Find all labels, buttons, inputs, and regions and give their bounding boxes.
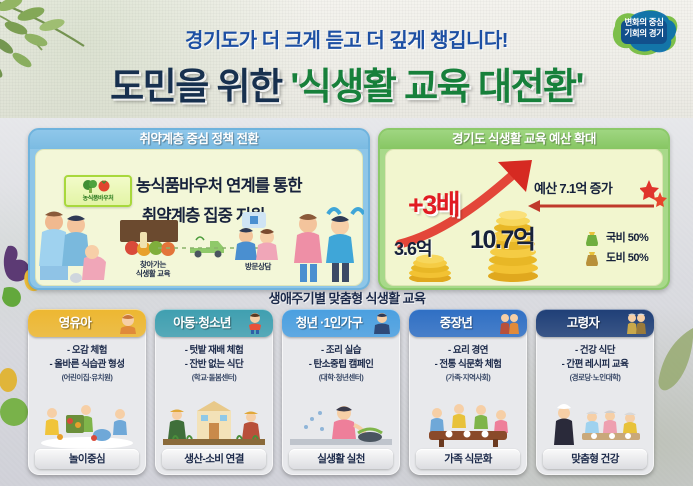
card-header-youth-single: 청년 ·1인가구 bbox=[282, 309, 400, 337]
home-visit-counseling-icon bbox=[230, 210, 286, 262]
infographic-root: 경기도가 더 크게 듣고 더 깊게 챙깁니다! 도민을 위한 '식생활 교육 대… bbox=[0, 0, 693, 486]
voucher-badge: 농식품바우처 bbox=[64, 175, 132, 207]
budget-multiplier: +3배 bbox=[408, 183, 459, 222]
page-title: 도민을 위한 '식생활 교육 대전환' bbox=[0, 56, 693, 110]
young-adult-icon bbox=[371, 312, 393, 334]
policy-shift-heading: 취약계층 중심 정책 전환 bbox=[30, 130, 368, 149]
couple-heart-icon bbox=[288, 204, 364, 284]
card-lines-infant: - 오감 체험 - 올바른 식습관 형성 (어린이집·유치원) bbox=[28, 344, 146, 383]
cooking-practice-icon bbox=[288, 401, 394, 449]
card-note: (학교·돌봄센터) bbox=[155, 372, 273, 383]
brand-line-2: 기회의 경기 bbox=[605, 28, 683, 39]
middle-aged-couple-icon bbox=[498, 312, 520, 334]
schoolboy-icon bbox=[244, 312, 266, 334]
card-title-infant: 영유아 bbox=[28, 309, 122, 337]
card-note: (경로당·노인대학) bbox=[536, 372, 654, 383]
card-item: - 오감 체험 bbox=[28, 344, 146, 358]
school-garden-icon bbox=[161, 401, 267, 449]
budget-after-value: 10.7억 bbox=[470, 220, 535, 256]
senior-cooking-class-icon bbox=[542, 401, 648, 449]
lifecycle-card-infant[interactable]: 영유아 - 오감 체험 - 올바른 식습관 형성 (어린이집·유치원) bbox=[28, 309, 146, 475]
card-item: - 조리 실습 bbox=[282, 344, 400, 358]
policy-line-1: 농식품바우처 연계를 통한 bbox=[136, 172, 302, 196]
lifecycle-section: 생애주기별 맞춤형 식생활 교육 영유아 - 오감 체험 - 올바른 식습관 형… bbox=[28, 288, 666, 480]
card-title-youth-single: 청년 ·1인가구 bbox=[282, 309, 376, 337]
card-footer-elderly: 맞춤형 건강 bbox=[543, 449, 647, 469]
outreach-education-caption: 찾아가는 식생활 교육 bbox=[120, 260, 186, 279]
lifecycle-card-child-youth[interactable]: 아동·청소년 - 텃밭 재배 체험 - 잔반 없는 식단 (학교·돌봄센터) bbox=[155, 309, 273, 475]
card-lines-youth-single: - 조리 실습 - 탄소중립 캠페인 (대학·청년센터) bbox=[282, 344, 400, 383]
money-bag-icon bbox=[584, 250, 600, 266]
policy-shift-body: 농식품바우처 농식품바우처 연계를 통한 취약계층 집중 지원 bbox=[35, 149, 363, 286]
budget-expansion-body: +3배 3.6억 10.7억 예산 7.1억 증가 bbox=[385, 149, 663, 286]
elderly-couple-icon bbox=[625, 312, 647, 334]
share-province-label: 도비 50% bbox=[606, 249, 648, 265]
card-note: (어린이집·유치원) bbox=[28, 372, 146, 383]
header-banner: 경기도가 더 크게 듣고 더 깊게 챙깁니다! 도민을 위한 '식생활 교육 대… bbox=[0, 0, 693, 122]
children-playing-with-food-icon bbox=[34, 401, 140, 449]
budget-expansion-panel: 경기도 식생활 교육 예산 확대 +3배 3.6억 bbox=[378, 128, 670, 290]
budget-expansion-heading: 경기도 식생활 교육 예산 확대 bbox=[380, 130, 668, 149]
card-header-child-youth: 아동·청소년 bbox=[155, 309, 273, 337]
family-with-stroller-icon bbox=[32, 208, 118, 284]
card-header-middle-aged: 중장년 bbox=[409, 309, 527, 337]
card-footer-middle-aged: 가족 식문화 bbox=[416, 449, 520, 469]
card-header-elderly: 고령자 bbox=[536, 309, 654, 337]
card-item: - 탄소중립 캠페인 bbox=[282, 358, 400, 372]
family-dining-table-icon bbox=[415, 401, 521, 449]
budget-before-value: 3.6억 bbox=[394, 235, 432, 261]
card-item: - 잔반 없는 식단 bbox=[155, 358, 273, 372]
budget-increase-note: 예산 7.1억 증가 bbox=[534, 178, 612, 197]
card-lines-elderly: - 건강 식단 - 간편 레시피 교육 (경로당·노인대학) bbox=[536, 344, 654, 383]
brand-line-1: 변화의 중심 bbox=[605, 17, 683, 28]
page-title-part2: '식생활 교육 대전환' bbox=[290, 66, 582, 107]
header-kicker: 경기도가 더 크게 듣고 더 깊게 챙깁니다! bbox=[0, 24, 693, 53]
card-header-infant: 영유아 bbox=[28, 309, 146, 337]
card-title-elderly: 고령자 bbox=[536, 309, 630, 337]
card-footer-infant: 놀이중심 bbox=[35, 449, 139, 469]
vegetable-corner-icon bbox=[0, 368, 30, 430]
page-title-part1: 도민을 위한 bbox=[110, 66, 290, 107]
voucher-badge-text: 농식품바우처 bbox=[66, 193, 130, 202]
card-lines-child-youth: - 텃밭 재배 체험 - 잔반 없는 식단 (학교·돌봄센터) bbox=[155, 344, 273, 383]
lifecycle-card-list: 영유아 - 오감 체험 - 올바른 식습관 형성 (어린이집·유치원) bbox=[28, 309, 654, 475]
gyeonggi-brand-icon: 변화의 중심 기회의 경기 bbox=[605, 6, 683, 58]
card-item: - 요리 경연 bbox=[409, 344, 527, 358]
card-lines-middle-aged: - 요리 경연 - 전통 식문화 체험 (가족·지역사회) bbox=[409, 344, 527, 383]
share-national-label: 국비 50% bbox=[606, 229, 648, 245]
lifecycle-card-youth-single[interactable]: 청년 ·1인가구 - 조리 실습 - 탄소중립 캠페인 (대학·청년센터) bbox=[282, 309, 400, 475]
card-title-child-youth: 아동·청소년 bbox=[155, 309, 249, 337]
lifecycle-section-title: 생애주기별 맞춤형 식생활 교육 bbox=[28, 288, 666, 307]
card-item: - 텃밭 재배 체험 bbox=[155, 344, 273, 358]
card-footer-youth-single: 실생활 실천 bbox=[289, 449, 393, 469]
card-note: (대학·청년센터) bbox=[282, 372, 400, 383]
toddler-icon bbox=[117, 312, 139, 334]
food-box-icon bbox=[118, 218, 180, 262]
policy-shift-panel: 취약계층 중심 정책 전환 농식품바우처 농식품바우처 연계를 통한 취약계층 … bbox=[28, 128, 370, 290]
card-item: - 전통 식문화 체험 bbox=[409, 358, 527, 372]
sparkle-star-icon bbox=[640, 178, 668, 208]
card-title-middle-aged: 중장년 bbox=[409, 309, 503, 337]
brand-logo-text: 변화의 중심 기회의 경기 bbox=[605, 17, 683, 40]
card-item: - 건강 식단 bbox=[536, 344, 654, 358]
card-item: - 올바른 식습관 형성 bbox=[28, 358, 146, 372]
card-footer-child-youth: 생산-소비 연결 bbox=[162, 449, 266, 469]
visit-counseling-caption: 방문상담 bbox=[230, 262, 286, 271]
card-item: - 간편 레시피 교육 bbox=[536, 358, 654, 372]
lifecycle-card-elderly[interactable]: 고령자 - 건강 식단 - 간편 레시피 교육 (경로당·노인대학) bbox=[536, 309, 654, 475]
money-bag-icon bbox=[584, 230, 600, 246]
card-note: (가족·지역사회) bbox=[409, 372, 527, 383]
lifecycle-card-middle-aged[interactable]: 중장년 - 요리 경연 - 전통 식문화 체험 (가족·지역사회) bbox=[409, 309, 527, 475]
